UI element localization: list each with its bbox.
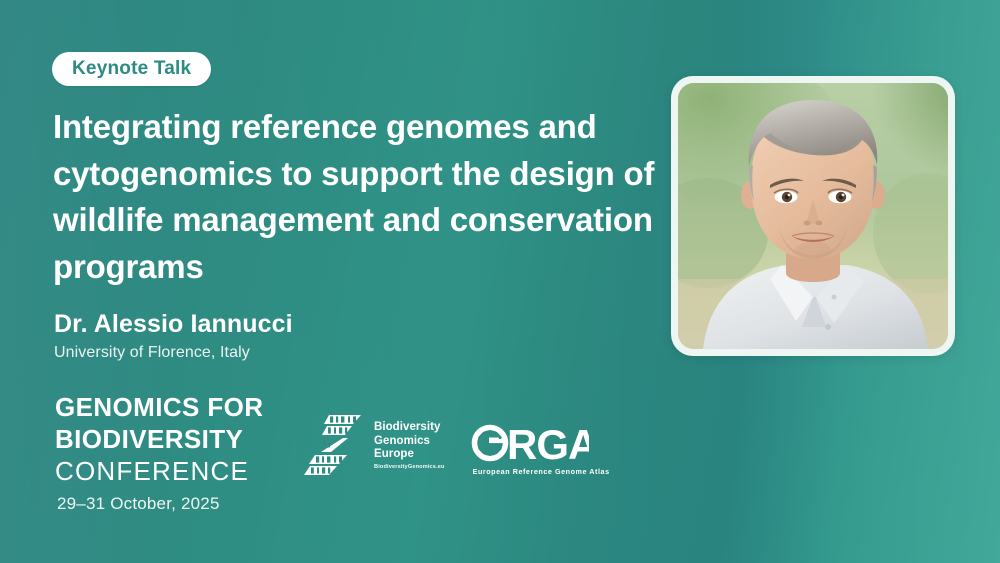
keynote-announcement-poster: Keynote Talk Integrating reference genom… <box>0 0 1000 563</box>
erga-circle-logo-icon: RGA <box>471 417 589 467</box>
erga-tagline: European Reference Genome Atlas <box>473 467 610 476</box>
keynote-talk-badge: Keynote Talk <box>52 52 211 86</box>
svg-text:RGA: RGA <box>507 421 589 467</box>
conference-wordmark-line1: GENOMICS FOR <box>55 394 263 420</box>
bge-chromosome-mark-icon <box>303 413 365 479</box>
conference-wordmark-line2: BIODIVERSITY <box>55 426 263 452</box>
talk-title: Integrating reference genomes and cytoge… <box>53 104 663 290</box>
conference-dates: 29–31 October, 2025 <box>57 494 220 514</box>
speaker-name: Dr. Alessio Iannucci <box>54 310 293 339</box>
bge-name-line2: Genomics <box>374 435 445 448</box>
partner-logos: Biodiversity Genomics Europe Biodiversit… <box>303 413 610 479</box>
conference-wordmark: GENOMICS FOR BIODIVERSITY CONFERENCE <box>55 394 263 484</box>
speaker-affiliation: University of Florence, Italy <box>54 344 250 362</box>
bge-logo: Biodiversity Genomics Europe Biodiversit… <box>303 413 445 479</box>
bge-website-url: BiodiversityGenomics.eu <box>374 464 445 470</box>
erga-logo: RGA European Reference Genome Atlas <box>471 417 610 476</box>
speaker-photo <box>678 83 948 349</box>
bge-logo-text: Biodiversity Genomics Europe Biodiversit… <box>374 421 445 470</box>
bge-name-line3: Europe <box>374 448 445 461</box>
speaker-photo-frame <box>671 76 955 356</box>
speaker-portrait-illustration <box>678 83 948 349</box>
conference-wordmark-line3: CONFERENCE <box>55 458 263 484</box>
bge-name-line1: Biodiversity <box>374 421 445 434</box>
